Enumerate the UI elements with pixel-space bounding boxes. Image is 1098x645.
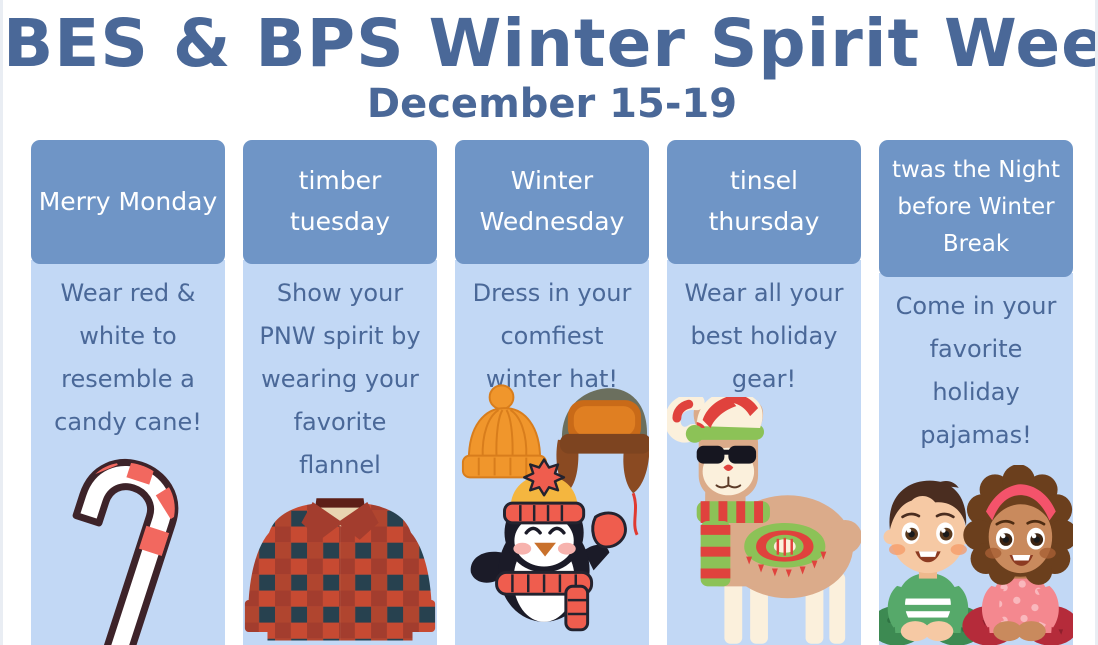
day-header-tuesday: timber tuesday [243, 140, 437, 264]
day-body-monday: Wear red & white to resemble a candy can… [31, 260, 225, 645]
candy-cane-icon [31, 455, 225, 645]
penguin-icon [471, 460, 626, 630]
day-description-friday: Come in your favorite holiday pajamas! [879, 273, 1073, 457]
trapper-hat-icon [556, 388, 649, 534]
festive-llama-icon [667, 397, 861, 645]
girl-in-pink-pajamas [962, 465, 1073, 645]
page-subtitle: December 15-19 [3, 82, 1098, 126]
day-body-tuesday: Show your PNW spirit by wearing your fav… [243, 260, 437, 645]
day-description-thursday: Wear all your best holiday gear! [667, 260, 861, 401]
title-block: BES & BPS Winter Spirit Week December 15… [3, 0, 1098, 126]
day-body-wednesday: Dress in your comfiest winter hat! [455, 260, 649, 645]
flannel-shirt-icon [243, 490, 437, 645]
day-column-monday: Merry Monday Wear red & white to resembl… [31, 140, 225, 645]
winter-spirit-week-poster: BES & BPS Winter Spirit Week December 15… [0, 0, 1098, 645]
page-title: BES & BPS Winter Spirit Week [3, 8, 1098, 80]
day-column-tuesday: timber tuesday Show your PNW spirit by w… [243, 140, 437, 645]
day-header-friday: twas the Night before Winter Break [879, 140, 1073, 277]
day-body-thursday: Wear all your best holiday gear! [667, 260, 861, 645]
day-description-tuesday: Show your PNW spirit by wearing your fav… [243, 260, 437, 487]
day-column-thursday: tinsel thursday Wear all your best holid… [667, 140, 861, 645]
day-body-friday: Come in your favorite holiday pajamas! [879, 273, 1073, 645]
day-header-wednesday: Winter Wednesday [455, 140, 649, 264]
spirit-week-day-columns: Merry Monday Wear red & white to resembl… [3, 140, 1098, 645]
day-column-wednesday: Winter Wednesday Dress in your comfiest … [455, 140, 649, 645]
day-description-wednesday: Dress in your comfiest winter hat! [455, 260, 649, 401]
day-column-friday: twas the Night before Winter Break Come … [879, 140, 1073, 645]
day-header-thursday: tinsel thursday [667, 140, 861, 264]
kids-in-pajamas-icon [879, 465, 1073, 645]
day-description-monday: Wear red & white to resemble a candy can… [31, 260, 225, 444]
boy-in-green-pajamas [879, 481, 984, 645]
winter-hats-and-penguin-icon [455, 383, 649, 645]
day-header-monday: Merry Monday [31, 140, 225, 264]
